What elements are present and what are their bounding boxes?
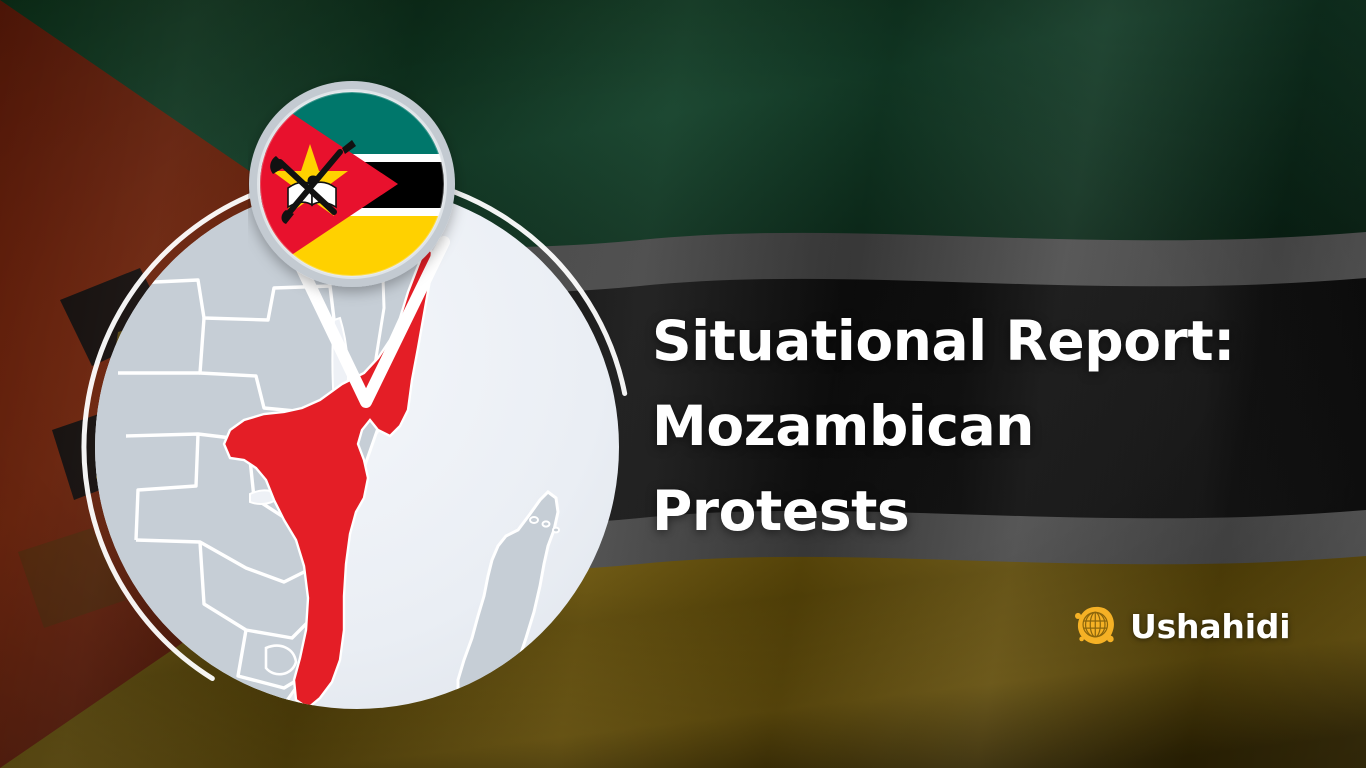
page-title: Situational Report: Mozambican Protests — [652, 299, 1292, 554]
poster-canvas: Situational Report: Mozambican Protests … — [0, 0, 1366, 768]
brand-name: Ushahidi — [1130, 607, 1290, 646]
map-pin — [248, 72, 494, 444]
pin-svg — [248, 72, 494, 444]
globe-blob-icon — [1073, 603, 1119, 649]
lesotho — [266, 646, 296, 675]
brand-lockup: Ushahidi — [1073, 603, 1290, 649]
